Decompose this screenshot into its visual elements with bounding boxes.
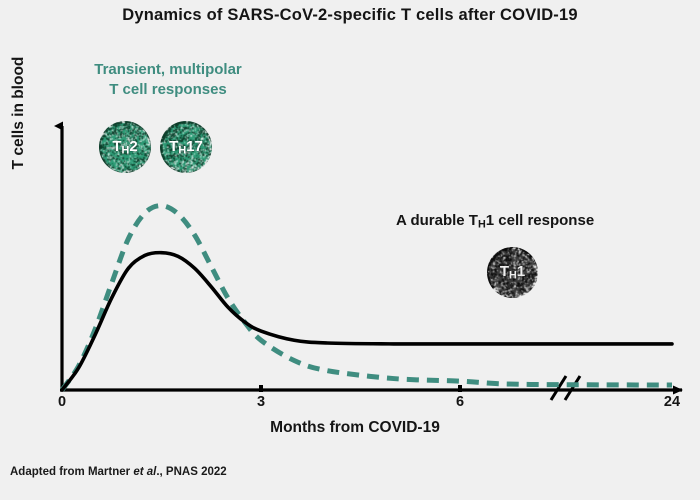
x-axis-title: Months from COVID-19	[120, 419, 590, 437]
x-tick-label-0: 0	[47, 394, 77, 410]
footnote-suffix: ., PNAS 2022	[156, 466, 226, 478]
axis-break-marker	[551, 376, 580, 400]
chart-figure: Dynamics of SARS-CoV-2-specific T cells …	[0, 0, 700, 500]
series-transient-responses	[62, 206, 672, 390]
x-tick-label-3: 3	[246, 394, 276, 410]
footnote-prefix: Adapted from Martner	[10, 466, 133, 478]
x-tick-label-6: 6	[445, 394, 475, 410]
y-axis-title: T cells in blood	[10, 28, 38, 198]
series-durable-th1	[62, 253, 672, 390]
x-tick-label-24: 24	[657, 394, 687, 410]
source-footnote: Adapted from Martner et al., PNAS 2022	[10, 466, 227, 478]
footnote-italic: et al	[133, 466, 156, 478]
axis-lines	[60, 126, 682, 390]
